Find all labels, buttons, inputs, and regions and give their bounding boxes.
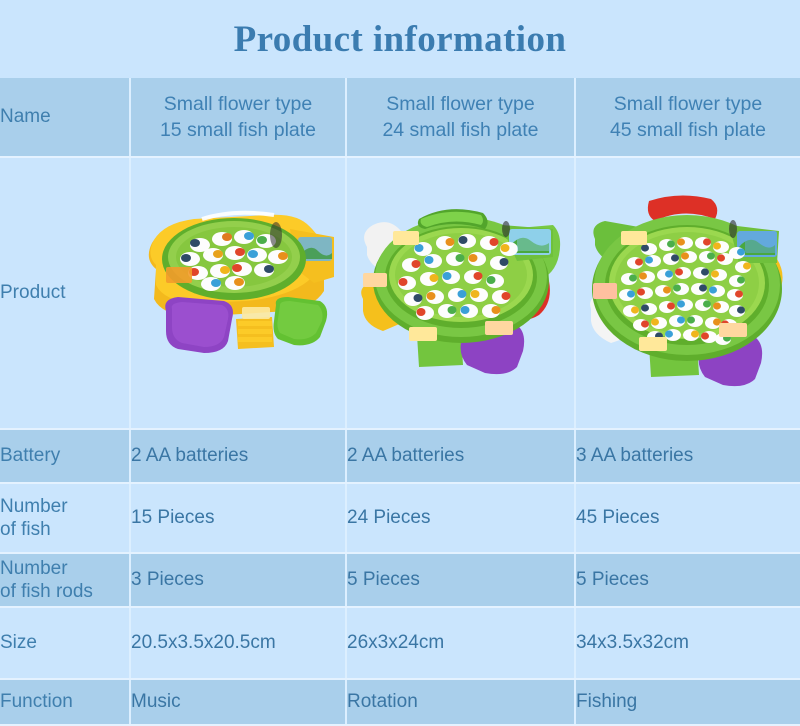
- product-spec-table: Name Small flower type 15 small fish pla…: [0, 78, 800, 726]
- size-value-col2: 26x3x24cm: [346, 607, 575, 679]
- fish-count-col3: 45 Pieces: [575, 483, 800, 553]
- fishing-toy-45-svg: [583, 189, 793, 397]
- fishing-toy-24-image: [347, 159, 574, 427]
- fishing-toy-15-image: [131, 159, 345, 427]
- table-row-product: Product: [0, 157, 800, 429]
- function-value-col1: Music: [130, 679, 346, 725]
- table-row-number-of-fish: Number of fish 15 Pieces 24 Pieces 45 Pi…: [0, 483, 800, 553]
- battery-value-col3: 3 AA batteries: [575, 429, 800, 483]
- page-title-band: Product information: [0, 0, 800, 78]
- rods-count-col2: 5 Pieces: [346, 553, 575, 607]
- row-label-name: Name: [0, 78, 130, 157]
- row-label-function: Function: [0, 679, 130, 725]
- size-value-col3: 34x3.5x32cm: [575, 607, 800, 679]
- rods-count-col1: 3 Pieces: [130, 553, 346, 607]
- battery-value-col1: 2 AA batteries: [130, 429, 346, 483]
- label-line-2: of fish: [0, 518, 129, 541]
- row-label-number-of-fish-rods: Number of fish rods: [0, 553, 130, 607]
- table-row-function: Function Music Rotation Fishing: [0, 679, 800, 725]
- product-information-page: Product information Name Small flower ty…: [0, 0, 800, 724]
- name-line-1: Small flower type: [131, 91, 345, 117]
- function-value-col3: Fishing: [575, 679, 800, 725]
- function-value-col2: Rotation: [346, 679, 575, 725]
- product-image-col1: [130, 157, 346, 429]
- fishing-toy-45-image: [576, 159, 800, 427]
- fish-count-col2: 24 Pieces: [346, 483, 575, 553]
- table-row-number-of-fish-rods: Number of fish rods 3 Pieces 5 Pieces 5 …: [0, 553, 800, 607]
- rods-count-col3: 5 Pieces: [575, 553, 800, 607]
- label-line-1: Number: [0, 495, 129, 518]
- product-image-col2: [346, 157, 575, 429]
- name-line-2: 24 small fish plate: [347, 117, 574, 143]
- row-label-battery: Battery: [0, 429, 130, 483]
- label-line-2: of fish rods: [0, 580, 129, 603]
- name-line-1: Small flower type: [347, 91, 574, 117]
- fishing-toy-24-svg: [353, 191, 568, 396]
- size-value-col1: 20.5x3.5x20.5cm: [130, 607, 346, 679]
- table-row-battery: Battery 2 AA batteries 2 AA batteries 3 …: [0, 429, 800, 483]
- name-value-col2: Small flower type 24 small fish plate: [346, 78, 575, 157]
- name-value-col3: Small flower type 45 small fish plate: [575, 78, 800, 157]
- page-title: Product information: [234, 21, 567, 58]
- battery-value-col2: 2 AA batteries: [346, 429, 575, 483]
- product-image-col3: [575, 157, 800, 429]
- row-label-number-of-fish: Number of fish: [0, 483, 130, 553]
- name-line-1: Small flower type: [576, 91, 800, 117]
- name-line-2: 15 small fish plate: [131, 117, 345, 143]
- fish-count-col1: 15 Pieces: [130, 483, 346, 553]
- table-row-size: Size 20.5x3.5x20.5cm 26x3x24cm 34x3.5x32…: [0, 607, 800, 679]
- row-label-size: Size: [0, 607, 130, 679]
- table-row-name: Name Small flower type 15 small fish pla…: [0, 78, 800, 157]
- label-line-1: Number: [0, 557, 129, 580]
- row-label-product: Product: [0, 157, 130, 429]
- name-line-2: 45 small fish plate: [576, 117, 800, 143]
- name-value-col1: Small flower type 15 small fish plate: [130, 78, 346, 157]
- fishing-toy-15-svg: [136, 201, 341, 386]
